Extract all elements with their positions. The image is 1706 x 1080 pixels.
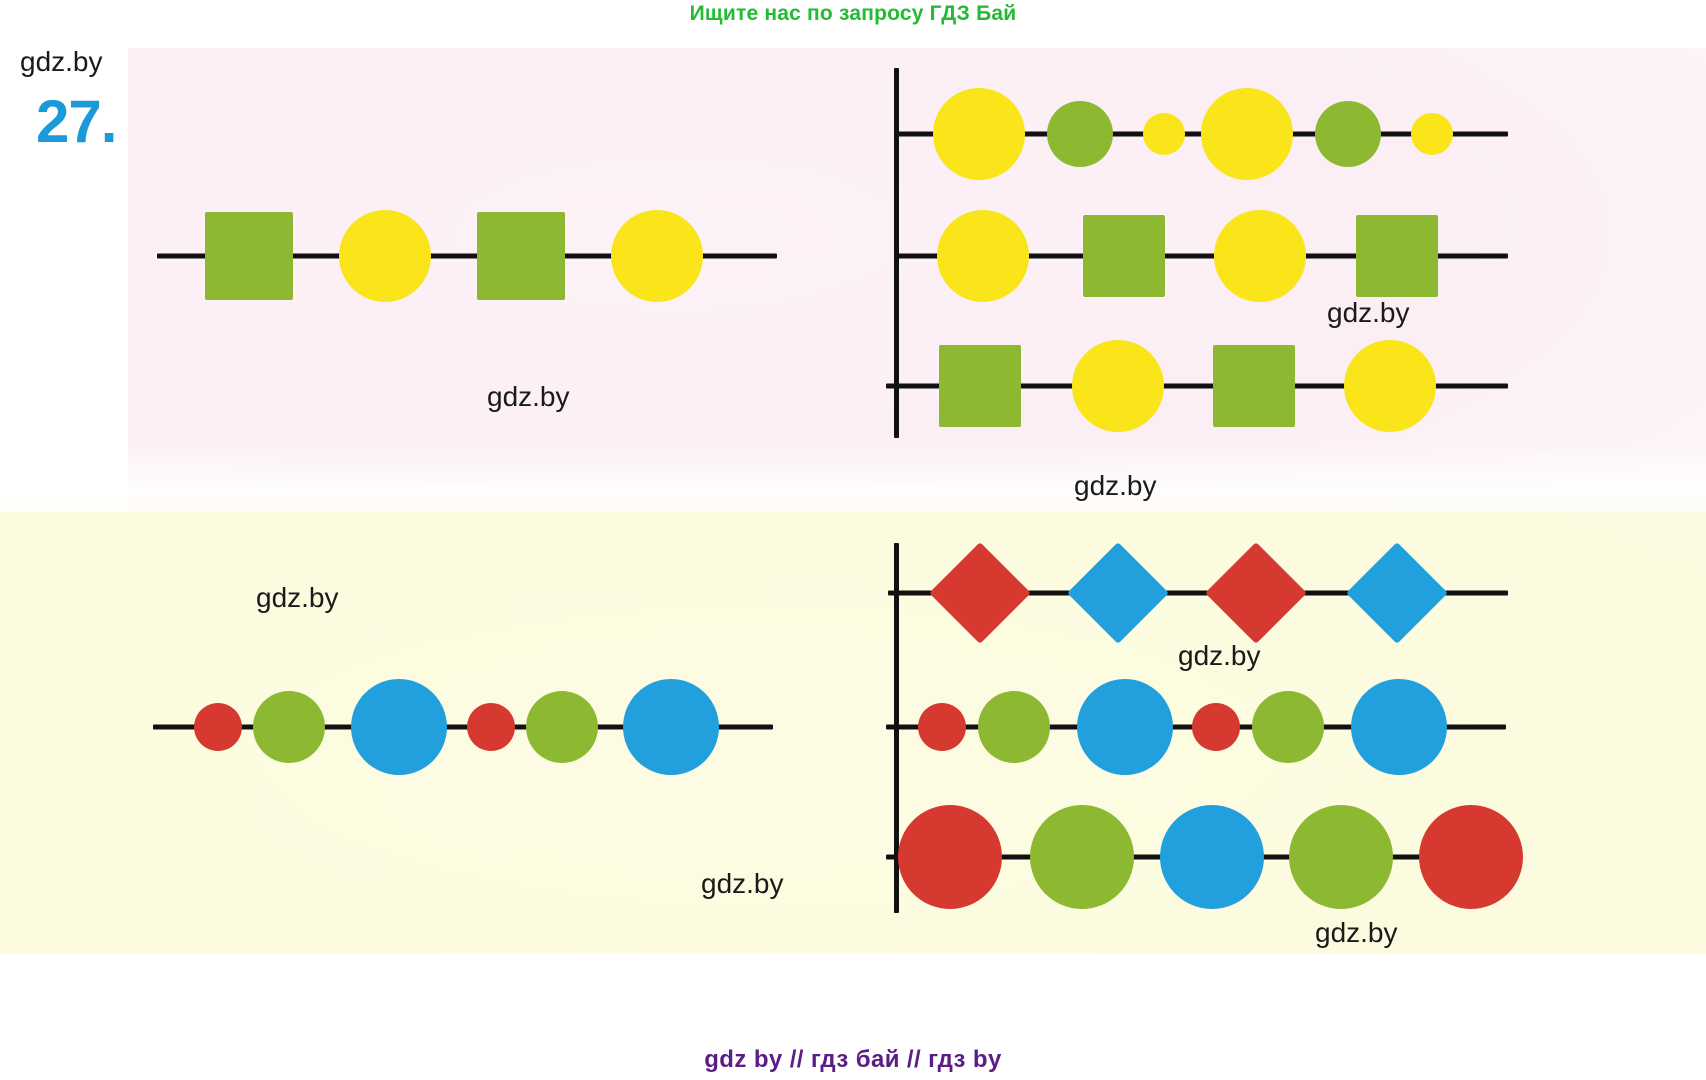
watermark-gdz-4: gdz.by xyxy=(1074,470,1157,502)
shape-green-circle xyxy=(1289,805,1393,909)
shape-blue-circle xyxy=(1077,679,1173,775)
shape-blue-diamond xyxy=(1067,542,1169,644)
shape-blue-circle xyxy=(1351,679,1447,775)
pattern-row-br-3 xyxy=(886,795,1506,919)
pattern-row-br-2 xyxy=(886,667,1506,787)
shape-red-diamond xyxy=(929,542,1031,644)
shape-green-circle xyxy=(978,691,1050,763)
shape-red-diamond xyxy=(1205,542,1307,644)
panel-bottom-right xyxy=(0,0,1706,1080)
shape-blue-diamond xyxy=(1346,542,1448,644)
shape-blue-circle xyxy=(1160,805,1264,909)
watermark-gdz-2: gdz.by xyxy=(487,381,570,413)
shape-red-circle xyxy=(1419,805,1523,909)
page-root: Ищите нас по запросу ГДЗ Бай 27. gdz.byg… xyxy=(0,0,1706,1080)
shape-green-circle xyxy=(1252,691,1324,763)
shape-red-circle xyxy=(898,805,1002,909)
watermark-gdz-5: gdz.by xyxy=(256,582,339,614)
shape-red-circle xyxy=(918,703,966,751)
watermark-gdz-1: gdz.by xyxy=(20,46,103,78)
watermark-gdz-7: gdz.by xyxy=(701,868,784,900)
pattern-row-br-1 xyxy=(888,532,1508,654)
shape-green-circle xyxy=(1030,805,1134,909)
promo-footer-text: gdz by // гдз бай // гдз by xyxy=(0,1046,1706,1074)
watermark-gdz-3: gdz.by xyxy=(1327,297,1410,329)
shape-red-circle xyxy=(1192,703,1240,751)
watermark-gdz-6: gdz.by xyxy=(1178,640,1261,672)
watermark-gdz-8: gdz.by xyxy=(1315,917,1398,949)
